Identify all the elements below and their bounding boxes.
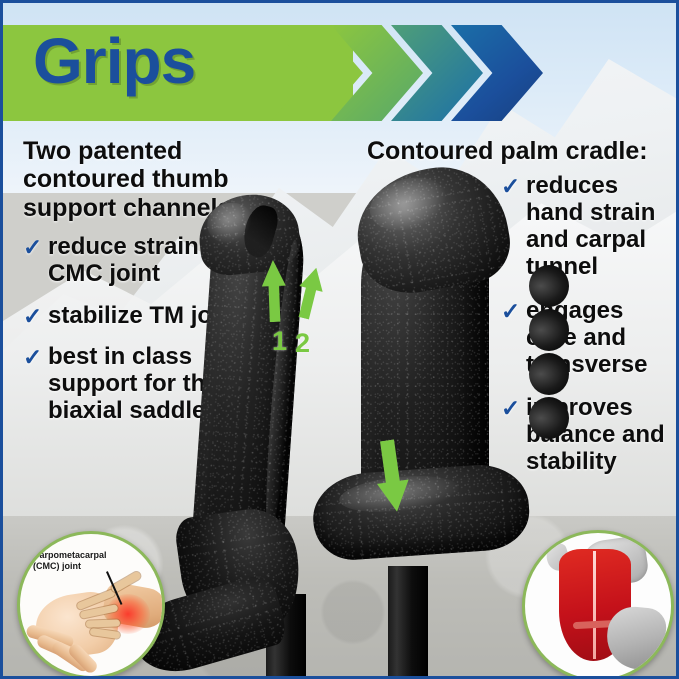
- finger-groove: [529, 397, 569, 439]
- finger-groove: [529, 265, 569, 307]
- check-icon: ✓: [23, 345, 42, 371]
- page-title: Grips: [33, 29, 195, 93]
- finger-groove: [529, 353, 569, 395]
- finger-groove: [529, 309, 569, 351]
- check-icon: ✓: [23, 304, 42, 330]
- metacarpal-bone: [86, 619, 120, 627]
- palm-cradle-hook: [348, 157, 517, 301]
- grips-infographic: Grips 1 2 Two patented contoured thumb s…: [0, 0, 679, 679]
- cmc-label-line-1: Carpometacarpal: [33, 550, 137, 561]
- thumb-channel-label-1: 1: [272, 328, 287, 355]
- check-icon: ✓: [23, 235, 42, 261]
- cmc-joint-inset: Carpometacarpal (CMC) joint: [17, 531, 165, 679]
- thumb-channel-label-2: 2: [295, 330, 310, 357]
- right-column-heading: Contoured palm cradle:: [367, 137, 672, 165]
- palm-cradle-grip: [333, 169, 563, 589]
- grip-texture: [348, 157, 517, 301]
- cmc-label-line-2: (CMC) joint: [33, 561, 137, 572]
- core-muscles-inset: [522, 530, 674, 679]
- linea-alba: [593, 551, 596, 659]
- cmc-joint-label: Carpometacarpal (CMC) joint: [33, 550, 137, 573]
- cmc-joint-pain-highlight: [106, 594, 150, 634]
